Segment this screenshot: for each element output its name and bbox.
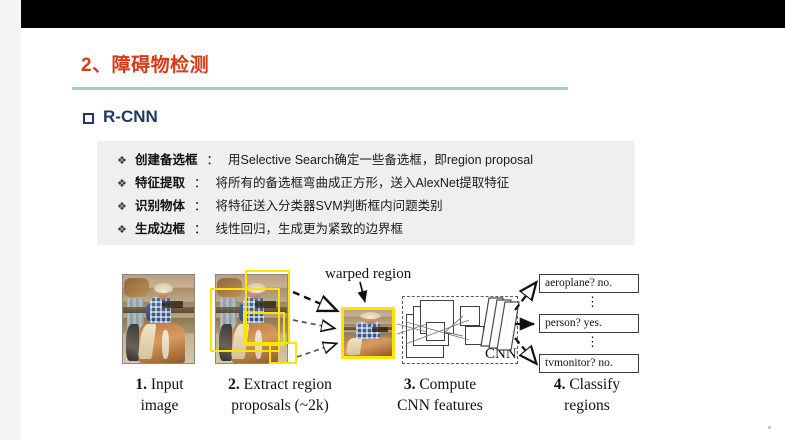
- bullet-term: 识别物体: [135, 195, 185, 214]
- step-line2: regions: [564, 397, 610, 414]
- bullet-separator: ：: [193, 195, 208, 214]
- step-caption-1: 1. Input image: [107, 374, 212, 417]
- ellipsis-dots-2: ⋮: [586, 334, 599, 350]
- bullet-term: 特征提取: [135, 172, 185, 191]
- section-heading: R-CNN: [83, 107, 158, 127]
- diamond-bullet-icon: ❖: [117, 179, 127, 190]
- title-divider: [72, 87, 568, 90]
- bullet-separator: ：: [206, 149, 221, 168]
- step-line1: Extract region: [244, 376, 332, 393]
- step-caption-4: 4. Classify regions: [521, 374, 653, 417]
- ellipsis-dots-1: ⋮: [586, 294, 599, 310]
- rcnn-pipeline-figure: warped region CNN aeropla: [97, 262, 677, 427]
- step-line1: Classify: [569, 376, 620, 393]
- classification-label: tvmonitor? no.: [545, 357, 613, 369]
- classification-label: aeroplane? no.: [545, 277, 612, 289]
- slide-canvas: 2、障碍物检测 R-CNN ❖ 创建备选框 ： 用Selective Searc…: [21, 0, 785, 440]
- square-bullet-icon: [83, 113, 94, 124]
- input-image-thumbnail: [122, 274, 195, 364]
- bullet-panel: ❖ 创建备选框 ： 用Selective Search确定一些备选框，即regi…: [97, 141, 635, 245]
- warped-region-label: warped region: [325, 266, 411, 283]
- cnn-layer-rect-6: [465, 326, 484, 345]
- bullet-separator: ：: [193, 172, 208, 191]
- cnn-label: CNN: [485, 346, 517, 363]
- step-line1: Input: [151, 376, 184, 393]
- bullet-separator: ：: [193, 218, 208, 237]
- proposal-box-horse: [243, 312, 285, 346]
- cnn-layer-rect-4: [426, 322, 445, 341]
- diamond-bullet-icon: ❖: [117, 202, 127, 213]
- step-number: 3.: [404, 376, 416, 393]
- corner-artifact-dot: [768, 426, 771, 429]
- bullet-body: 将所有的备选框弯曲成正方形，送入AlexNet提取特征: [216, 172, 510, 191]
- bullet-term: 创建备选框: [135, 149, 198, 168]
- classification-box-person: person? yes.: [539, 314, 639, 333]
- top-black-bar: [21, 0, 785, 28]
- step-line2: image: [141, 397, 179, 414]
- bullet-term: 生成边框: [135, 218, 185, 237]
- step-line2: CNN features: [397, 397, 483, 414]
- step-number: 1.: [135, 376, 147, 393]
- diamond-bullet-icon: ❖: [117, 225, 127, 236]
- bullet-body: 将特征送入分类器SVM判断框内问题类别: [216, 195, 443, 214]
- bullet-item-4: ❖ 生成边框 ： 线性回归，生成更为紧致的边界框: [97, 218, 635, 241]
- step-caption-2: 2. Extract region proposals (~2k): [205, 374, 355, 417]
- step-line2: proposals (~2k): [231, 397, 329, 414]
- page-title: 2、障碍物检测: [81, 50, 209, 77]
- classification-label: person? yes.: [545, 317, 602, 329]
- proposal-box-small-bottom: [269, 342, 297, 364]
- step-number: 4.: [554, 376, 566, 393]
- classification-box-tvmonitor: tvmonitor? no.: [539, 354, 639, 373]
- bullet-body: 线性回归，生成更为紧致的边界框: [216, 218, 404, 237]
- diamond-bullet-icon: ❖: [117, 156, 127, 167]
- cnn-layer-rect-5: [460, 306, 480, 326]
- step-caption-3: 3. Compute CNN features: [365, 374, 515, 417]
- bullet-body: 用Selective Search确定一些备选框，即region proposa…: [228, 149, 533, 168]
- bullet-item-3: ❖ 识别物体 ： 将特征送入分类器SVM判断框内问题类别: [97, 195, 635, 218]
- bullet-item-2: ❖ 特征提取 ： 将所有的备选框弯曲成正方形，送入AlexNet提取特征: [97, 172, 635, 195]
- step-line1: Compute: [419, 376, 476, 393]
- screenshot-viewport: 2、障碍物检测 R-CNN ❖ 创建备选框 ： 用Selective Searc…: [0, 0, 785, 440]
- bullet-item-1: ❖ 创建备选框 ： 用Selective Search确定一些备选框，即regi…: [97, 149, 635, 172]
- warped-region-thumbnail: [341, 307, 395, 359]
- step-number: 2.: [228, 376, 240, 393]
- classification-box-aeroplane: aeroplane? no.: [539, 274, 639, 293]
- section-heading-label: R-CNN: [103, 107, 158, 127]
